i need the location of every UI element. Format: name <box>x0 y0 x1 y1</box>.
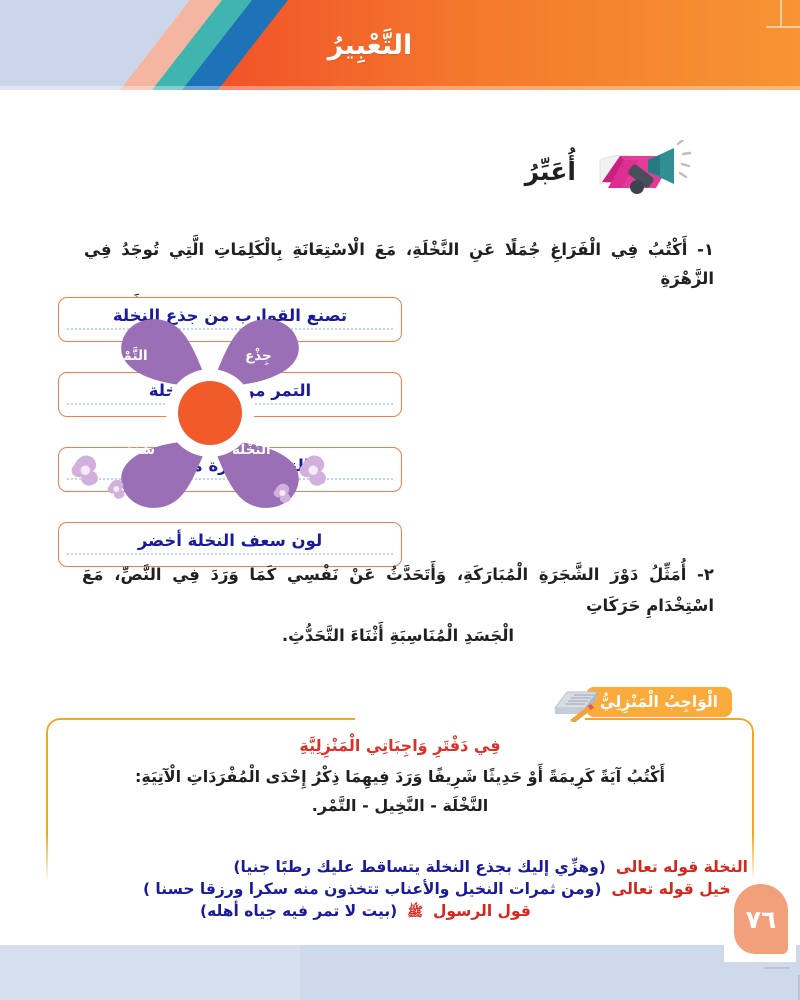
question-1-text: ١- أَكْتُبُ فِي الْفَرَاغِ جُمَلًا عَنِ … <box>84 240 714 288</box>
handwritten-answer[interactable]: النخلة قوله تعالى (وهزِّي إليك بجذع النخ… <box>40 856 748 922</box>
express-label: أُعَبِّرُ <box>525 157 576 186</box>
page-title: التَّعْبِيرُ <box>0 30 800 61</box>
decorative-flowers-left <box>72 456 125 499</box>
flower-diagram: التَّمْر جِذْع سَعَفٌ النَّخْلَة <box>60 296 360 531</box>
homework-title: فِي دَفْتَرِ وَاجِبَاتِي الْمَنْزِلِيَّة… <box>60 736 740 755</box>
answer-text-4[interactable]: لون سعف النخلة أخضر <box>69 531 391 550</box>
corner-tick-horizontal <box>766 26 800 28</box>
flower-svg <box>60 296 360 531</box>
book-megaphone-icon <box>590 140 700 202</box>
handwritten-row-2-quote: (ومن ثمرات النخيل والأعناب تتخذون منه سك… <box>143 878 601 900</box>
handwritten-row-3-label: قول الرسول <box>433 900 531 922</box>
corner-tick-vertical <box>780 0 782 26</box>
question-2-text: ٢- أُمَثِّلُ دَوْرَ الشَّجَرَةِ الْمُبَا… <box>82 565 714 615</box>
dotted-writing-line <box>67 553 393 555</box>
handwritten-row-1-quote: (وهزِّي إليك بجذع النخلة يتساقط عليك رطب… <box>233 856 605 878</box>
handwritten-row-1-label: النخلة قوله تعالى <box>616 856 748 878</box>
homework-badge-label: الْوَاجِبُ الْمَنْزِلِيُّ <box>600 693 718 711</box>
page-header: التَّعْبِيرُ <box>0 0 800 90</box>
question-2-tail: الْجَسَدِ الْمُنَاسِبَةِ أَثْنَاءَ التَّ… <box>82 621 714 652</box>
homework-badge: الْوَاجِبُ الْمَنْزِلِيُّ <box>586 687 732 717</box>
footer-tick-horizontal <box>764 967 790 969</box>
homework-word-list: النَّخْلَة - النَّخِيل - التَّمْر. <box>60 792 740 821</box>
express-section-header: أُعَبِّرُ <box>525 140 700 202</box>
question-2: ٢- أُمَثِّلُ دَوْرَ الشَّجَرَةِ الْمُبَا… <box>82 560 714 652</box>
handwritten-row-2[interactable]: النخيل قوله تعالى (ومن ثمرات النخيل والأ… <box>40 878 748 900</box>
notebook-pencil-icon <box>551 684 605 722</box>
handwritten-row-3-quote: (بيت لا تمر فيه جياه أهله) <box>200 900 397 922</box>
textbook-page: التَّعْبِيرُ <box>0 0 800 1000</box>
homework-content: فِي دَفْتَرِ وَاجِبَاتِي الْمَنْزِلِيَّة… <box>60 736 740 821</box>
footer-light-block <box>0 945 300 1000</box>
page-footer <box>0 945 800 1000</box>
handwritten-row-3[interactable]: قول الرسول ﷺ (بيت لا تمر فيه جياه أهله) <box>40 900 748 922</box>
page-number-badge: ٧٦ <box>734 884 788 954</box>
handwritten-row-1[interactable]: النخلة قوله تعالى (وهزِّي إليك بجذع النخ… <box>40 856 748 878</box>
flower-center <box>178 381 242 445</box>
homework-instruction: أَكْتُبُ آيَةً كَرِيمَةً أَوْ حَدِيثًا ش… <box>60 763 740 792</box>
salla-allahu-alayhi-icon: ﷺ <box>407 904 423 922</box>
